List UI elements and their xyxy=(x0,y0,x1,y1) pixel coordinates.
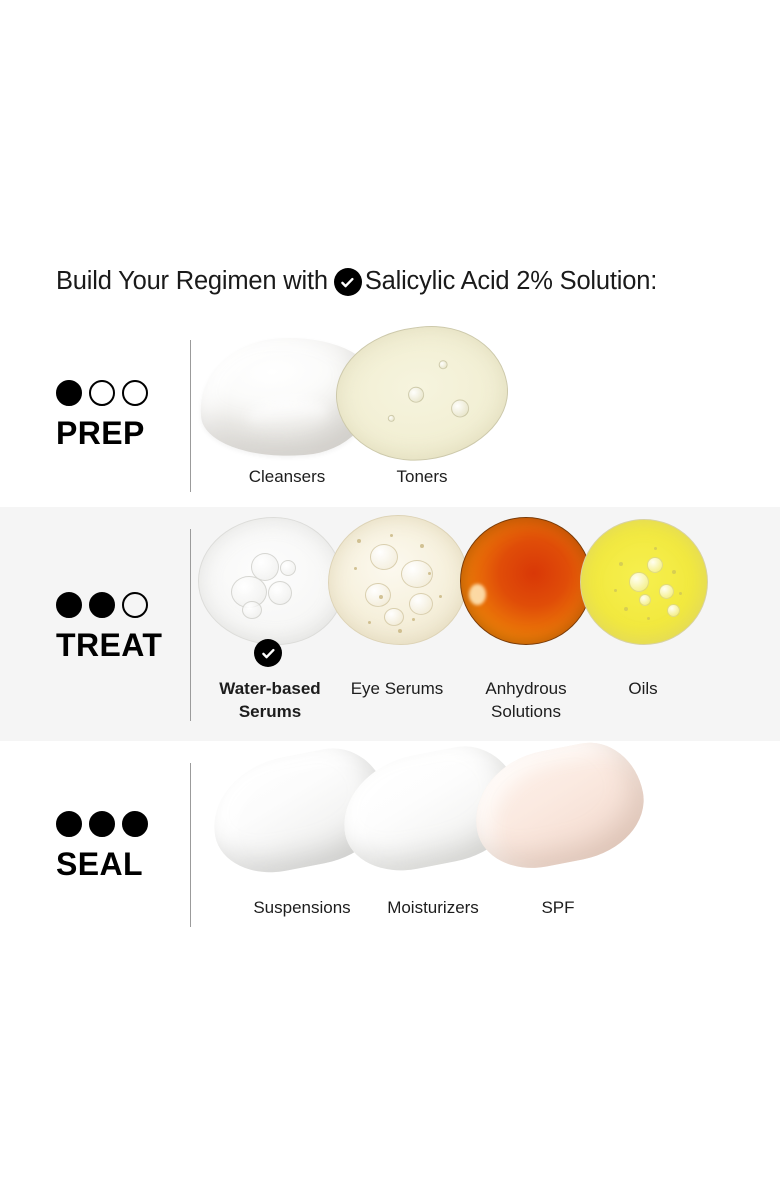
step-dot-filled xyxy=(89,811,115,837)
stage-label-block-treat: TREAT xyxy=(56,592,162,663)
step-dot-filled xyxy=(122,811,148,837)
product-label-line1: Anhydrous xyxy=(485,679,566,698)
swatch-oils xyxy=(580,519,708,645)
stage-label-block-prep: PREP xyxy=(56,380,148,451)
product-label-oils: Oils xyxy=(580,677,706,700)
stage-name-treat: TREAT xyxy=(56,627,162,663)
step-dot-filled xyxy=(89,592,115,618)
check-circle-icon xyxy=(334,268,362,296)
stage-label-block-seal: SEAL xyxy=(56,811,148,882)
step-indicator-prep xyxy=(56,380,148,406)
step-indicator-seal xyxy=(56,811,148,837)
page-title-prefix: Build Your Regimen with xyxy=(56,264,328,298)
swatch-water-based-serums xyxy=(198,517,344,645)
product-swatches-seal: Suspensions Moisturizers SPF xyxy=(196,741,756,946)
product-label-line2: Solutions xyxy=(491,702,561,721)
product-swatches-treat: Water-based Serums Eye Serums Anhydrous … xyxy=(196,507,756,741)
row-divider xyxy=(190,763,191,927)
page-title-product: Salicylic Acid 2% Solution: xyxy=(365,264,657,298)
regimen-step-seal: SEAL Suspensions Moisturizers SPF xyxy=(0,741,780,946)
product-label-spf: SPF xyxy=(480,896,636,919)
selected-product-check-icon xyxy=(254,639,282,667)
step-dot-filled xyxy=(56,380,82,406)
product-label-line1: Water-based xyxy=(219,679,320,698)
step-dot-filled xyxy=(56,592,82,618)
stage-name-seal: SEAL xyxy=(56,846,148,882)
stage-name-prep: PREP xyxy=(56,415,148,451)
product-label-water-based-serums: Water-based Serums xyxy=(198,677,342,723)
product-label-eye-serums: Eye Serums xyxy=(326,677,468,700)
product-label-line2: Serums xyxy=(239,702,301,721)
step-dot-empty xyxy=(122,592,148,618)
step-dot-filled xyxy=(56,811,82,837)
product-label-toners: Toners xyxy=(342,465,502,488)
step-indicator-treat xyxy=(56,592,162,618)
row-divider xyxy=(190,340,191,492)
regimen-step-prep: PREP Cleansers Toners xyxy=(0,310,780,507)
step-dot-empty xyxy=(89,380,115,406)
step-dot-empty xyxy=(122,380,148,406)
swatch-anhydrous-solutions xyxy=(460,517,592,645)
row-divider xyxy=(190,529,191,721)
product-label-anhydrous-solutions: Anhydrous Solutions xyxy=(458,677,594,723)
product-swatches-prep: Cleansers Toners xyxy=(196,310,756,507)
regimen-step-treat: TREAT xyxy=(0,507,780,741)
swatch-toners xyxy=(329,317,516,470)
page-title: Build Your Regimen with Salicylic Acid 2… xyxy=(56,264,657,298)
swatch-eye-serums xyxy=(328,515,468,645)
